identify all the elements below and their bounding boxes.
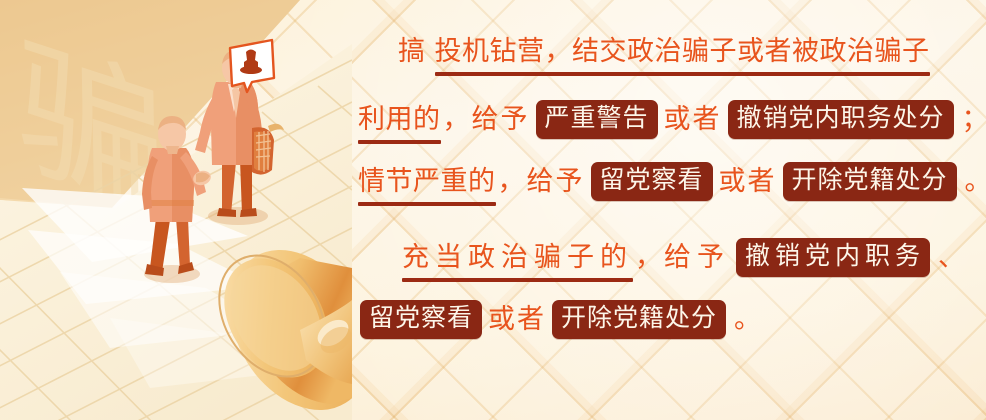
line2-or: 或者: [664, 106, 722, 133]
regulation-text-block: 搞 投机钻营，结交政治骗子或者被政治骗子 利用的 ， 给予 严重警告 或者 撤销…: [336, 32, 972, 352]
line4-end: 、: [936, 244, 967, 271]
text-line-3: 情节严重的 ， 给予 留党察看 或者 开除党籍处分 。: [358, 162, 986, 201]
line3-comma: ，: [496, 168, 527, 195]
line2-comma: ，: [441, 106, 472, 133]
line2-underlined: 利用的: [358, 106, 441, 133]
line2-end: ；: [960, 106, 986, 133]
penalty-badge-revoke-post[interactable]: 撤销党内职务: [736, 238, 930, 277]
illustration-svg: 骗: [0, 0, 352, 420]
penalty-badge-serious-warning[interactable]: 严重警告: [536, 100, 658, 139]
text-line-4: 充当政治骗子的 ， 给予 撤销党内职务 、: [402, 238, 967, 277]
line4-give: 给予: [664, 244, 730, 271]
illustration-panel: 骗: [0, 0, 352, 420]
text-line-5: 留党察看 或者 开除党籍处分 。: [354, 300, 763, 339]
poster-canvas: 骗: [0, 0, 986, 420]
line3-give: 给予: [527, 168, 585, 195]
penalty-badge-probation-2[interactable]: 留党察看: [360, 300, 482, 339]
line1-lead: 搞: [398, 38, 426, 65]
text-line-2: 利用的 ， 给予 严重警告 或者 撤销党内职务处分 ；: [358, 100, 986, 139]
line3-underlined: 情节严重的: [358, 168, 496, 195]
line3-or: 或者: [719, 168, 777, 195]
line5-or: 或者: [488, 306, 546, 333]
line3-end: 。: [963, 168, 986, 195]
text-line-1: 搞 投机钻营，结交政治骗子或者被政治骗子: [398, 38, 930, 65]
penalty-badge-expulsion-2[interactable]: 开除党籍处分: [552, 300, 726, 339]
line4-comma: ，: [633, 244, 664, 271]
line5-end: 。: [732, 306, 763, 333]
penalty-badge-probation[interactable]: 留党察看: [591, 162, 713, 201]
line4-underlined: 充当政治骗子的: [402, 244, 633, 271]
line2-give: 给予: [472, 106, 530, 133]
penalty-badge-revoke-party-post[interactable]: 撤销党内职务处分: [728, 100, 954, 139]
speech-bubble: [230, 40, 274, 92]
line1-underlined: 投机钻营，结交政治骗子或者被政治骗子: [435, 38, 930, 65]
penalty-badge-expulsion[interactable]: 开除党籍处分: [783, 162, 957, 201]
